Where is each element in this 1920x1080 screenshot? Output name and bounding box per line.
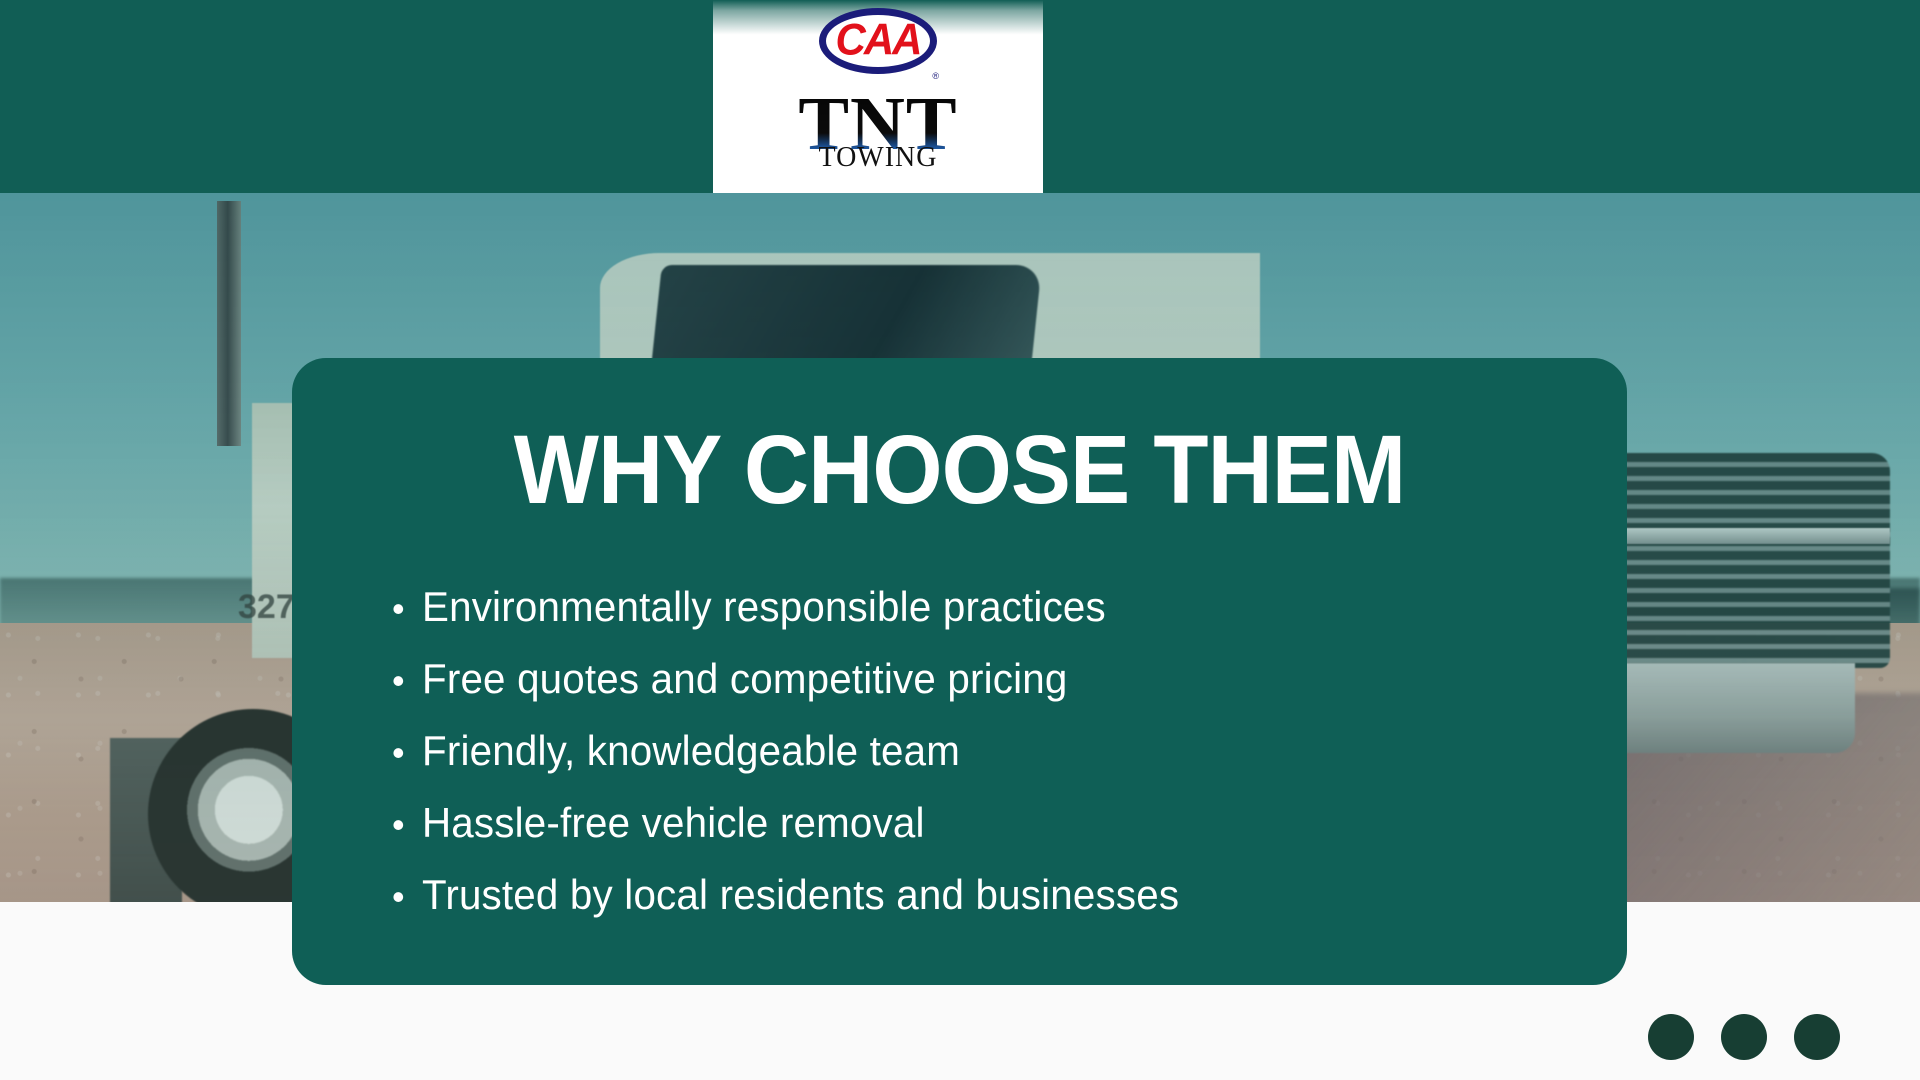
caa-wordmark: CAA — [819, 15, 937, 65]
list-item: • Friendly, knowledgeable team — [392, 716, 1627, 788]
tnt-towing-logo-icon: TNT TOWING — [763, 86, 993, 186]
caa-logo-icon: CAA ® — [819, 8, 937, 78]
bullet-icon: • — [392, 646, 422, 716]
list-item-label: Friendly, knowledgeable team — [422, 716, 960, 786]
benefits-list: • Environmentally responsible practices … — [292, 572, 1627, 932]
bullet-icon: • — [392, 790, 422, 860]
list-item: • Environmentally responsible practices — [392, 572, 1627, 644]
registered-trademark-icon: ® — [932, 71, 939, 81]
list-item: • Free quotes and competitive pricing — [392, 644, 1627, 716]
list-item-label: Hassle-free vehicle removal — [422, 788, 925, 858]
pagination-dot-3[interactable] — [1794, 1014, 1840, 1060]
pagination-dot-2[interactable] — [1721, 1014, 1767, 1060]
list-item-label: Free quotes and competitive pricing — [422, 644, 1067, 714]
list-item: • Trusted by local residents and busines… — [392, 860, 1627, 932]
pagination-dot-1[interactable] — [1648, 1014, 1694, 1060]
why-choose-them-card: WHY CHOOSE THEM • Environmentally respon… — [292, 358, 1627, 985]
bullet-icon: • — [392, 718, 422, 788]
tnt-towing-subtitle: TOWING — [763, 144, 993, 172]
bullet-icon: • — [392, 862, 422, 932]
list-item-label: Environmentally responsible practices — [422, 572, 1106, 642]
slide-canvas: 38 Member Service TNT TOWING 327- WHY CH… — [0, 0, 1920, 1080]
list-item-label: Trusted by local residents and businesse… — [422, 860, 1179, 930]
pagination-dots[interactable] — [1648, 1014, 1840, 1060]
brand-logo-panel[interactable]: CAA ® TNT TOWING — [713, 0, 1043, 193]
page-title: WHY CHOOSE THEM — [339, 358, 1581, 520]
bullet-icon: • — [392, 574, 422, 644]
list-item: • Hassle-free vehicle removal — [392, 788, 1627, 860]
